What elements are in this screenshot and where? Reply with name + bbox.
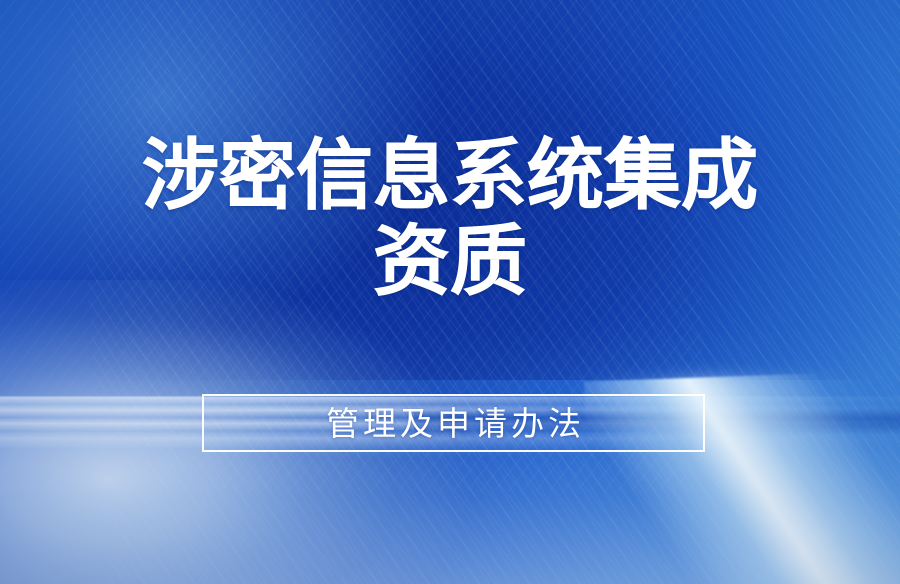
title-line-1: 涉密信息系统集成	[0, 133, 900, 219]
title-line-2: 资质	[0, 219, 900, 305]
banner-poster: 涉密信息系统集成 资质 管理及申请办法	[0, 0, 900, 584]
subtitle-frame: 管理及申请办法	[202, 394, 705, 452]
page-title: 涉密信息系统集成 资质	[0, 133, 900, 305]
subtitle-text: 管理及申请办法	[322, 407, 585, 440]
poster-content: 涉密信息系统集成 资质 管理及申请办法	[0, 0, 900, 584]
